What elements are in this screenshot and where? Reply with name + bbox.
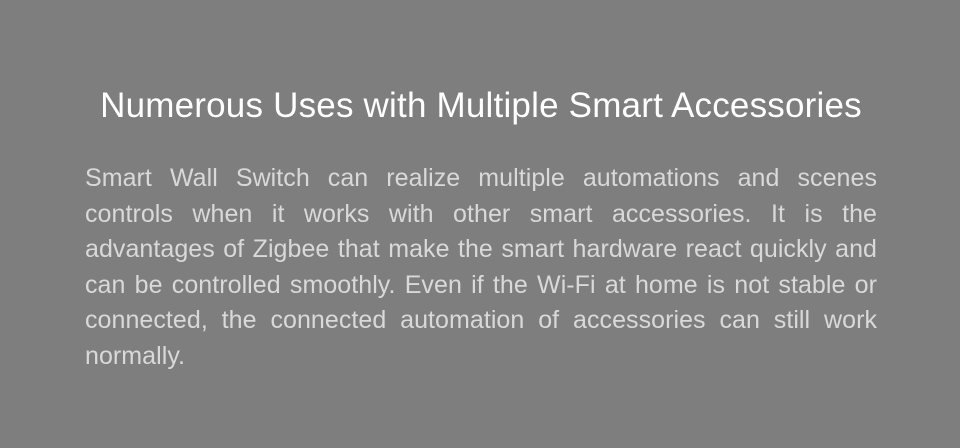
body-paragraph: Smart Wall Switch can realize multiple a…	[85, 161, 877, 410]
page-title: Numerous Uses with Multiple Smart Access…	[85, 84, 877, 128]
promo-banner: Numerous Uses with Multiple Smart Access…	[0, 0, 960, 448]
text-content-block: Numerous Uses with Multiple Smart Access…	[85, 84, 877, 410]
